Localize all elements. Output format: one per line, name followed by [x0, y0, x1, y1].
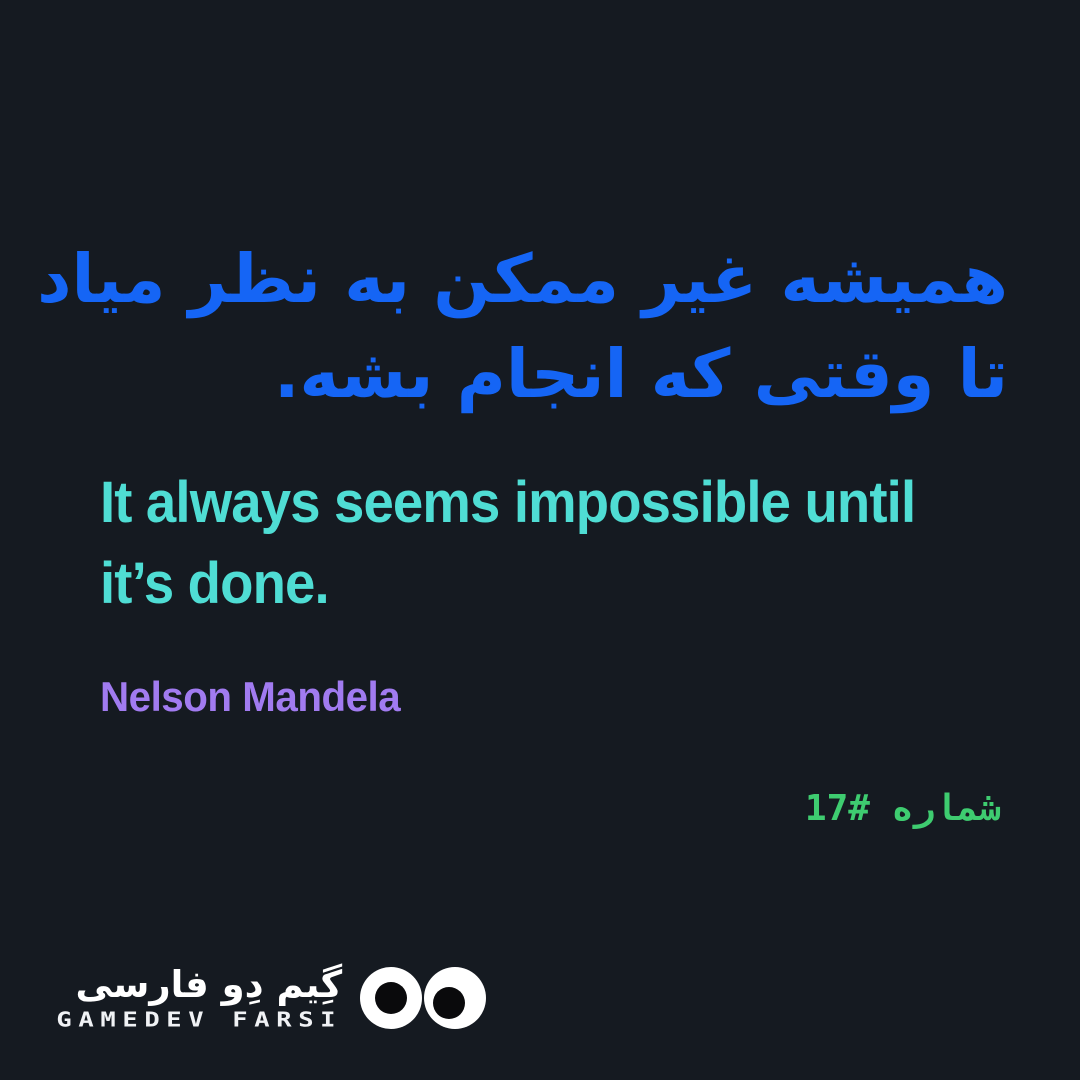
persian-quote: همیشه غیر ممکن به نظر میاد تا وقتی که ان… — [100, 232, 1008, 422]
pupil-left — [375, 982, 407, 1014]
eye-left-icon — [360, 967, 422, 1029]
brand-wordmark: گِیم دِو فارسی GAMEDEV FARSI — [62, 966, 342, 1032]
brand-name-english: GAMEDEV FARSI — [56, 1009, 342, 1030]
brand-name-persian: گِیم دِو فارسی — [76, 966, 343, 1003]
pupil-right — [433, 987, 465, 1019]
brand-logo: گِیم دِو فارسی GAMEDEV FARSI — [62, 966, 486, 1032]
persian-quote-line-1: همیشه غیر ممکن به نظر میاد — [100, 232, 1008, 327]
quote-card: همیشه غیر ممکن به نظر میاد تا وقتی که ان… — [0, 0, 1080, 1080]
english-quote-line-2: it’s done. — [100, 543, 937, 624]
persian-quote-line-2: تا وقتی که انجام بشه. — [100, 327, 1008, 422]
quote-author: Nelson Mandela — [100, 672, 400, 722]
english-quote: It always seems impossible until it’s do… — [100, 462, 937, 624]
issue-number: شماره #17 — [805, 788, 1000, 829]
googly-eyes-icon — [360, 967, 486, 1029]
english-quote-line-1: It always seems impossible until — [100, 462, 937, 543]
eye-right-icon — [424, 967, 486, 1029]
